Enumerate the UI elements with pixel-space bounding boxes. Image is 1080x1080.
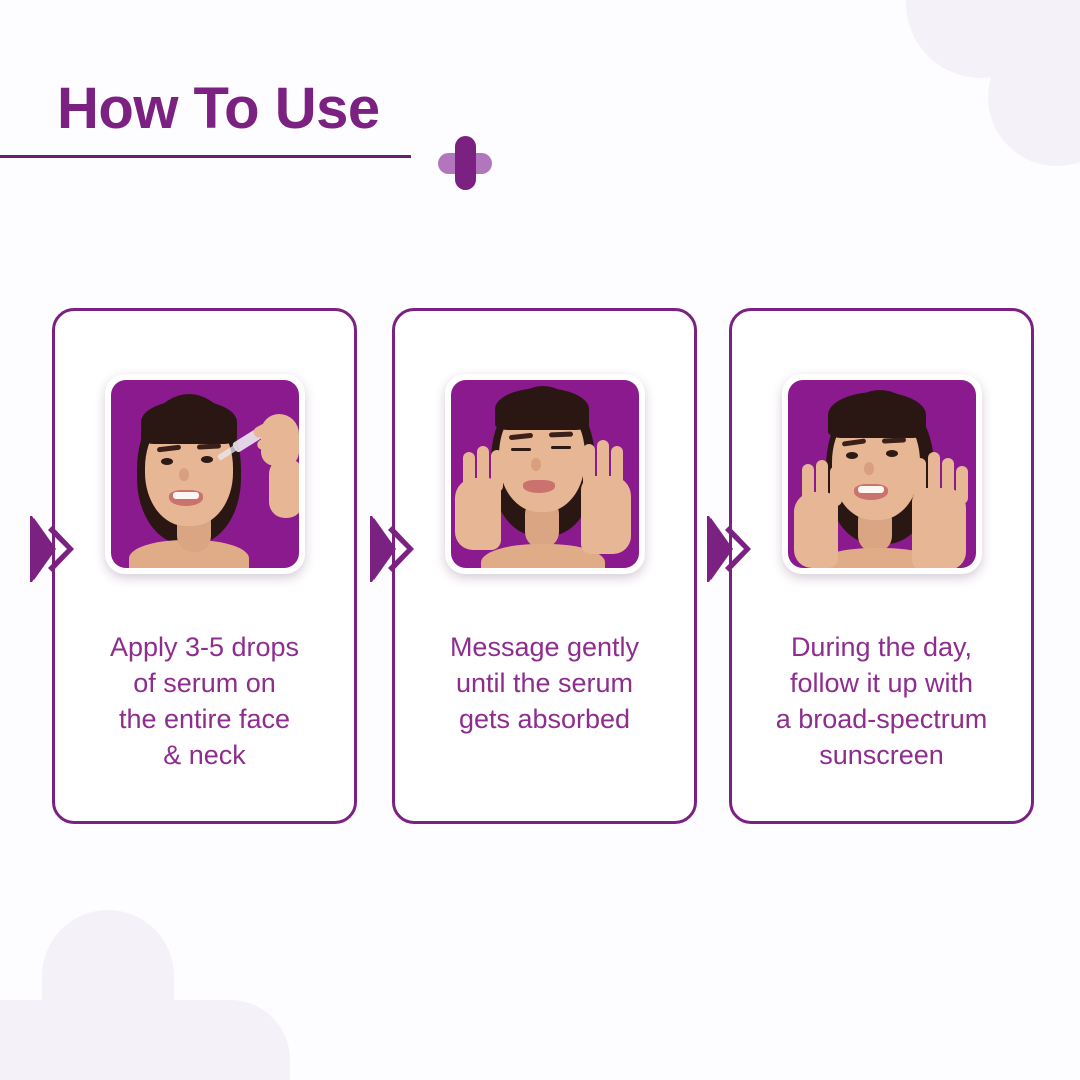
step-card-1[interactable]: Apply 3-5 drops of serum on the entire f… [52, 308, 357, 824]
step-card-2[interactable]: Message gently until the serum gets abso… [392, 308, 697, 824]
double-chevron-right-icon [370, 510, 416, 588]
step-caption-1: Apply 3-5 drops of serum on the entire f… [66, 630, 343, 774]
step-image-1 [111, 380, 299, 568]
step-caption-3: During the day, follow it up with a broa… [743, 630, 1020, 774]
blob-top-right-2 [988, 28, 1080, 166]
double-chevron-right-icon [30, 510, 76, 588]
blob-bottom-left-3 [170, 1000, 290, 1080]
double-chevron-right-icon [707, 510, 753, 588]
title-divider [0, 155, 411, 158]
steps-row: Apply 3-5 drops of serum on the entire f… [0, 308, 1080, 824]
page-title: How To Use [57, 79, 380, 140]
step-card-3[interactable]: During the day, follow it up with a broa… [729, 308, 1034, 824]
blob-bottom-left-2 [0, 1000, 146, 1080]
portrait-illustration-1 [111, 380, 299, 568]
step-image-2 [451, 380, 639, 568]
step-image-frame-1 [105, 374, 305, 574]
step-caption-2: Message gently until the serum gets abso… [406, 630, 683, 738]
step-image-frame-3 [782, 374, 982, 574]
blob-top-right-1 [906, 0, 1056, 78]
portrait-illustration-3 [788, 380, 976, 568]
blob-top-right-3 [1020, 0, 1080, 70]
plus-mark-icon [438, 136, 492, 190]
plus-mark-vertical-bar [455, 136, 476, 190]
step-image-frame-2 [445, 374, 645, 574]
portrait-illustration-2 [451, 380, 639, 568]
step-image-3 [788, 380, 976, 568]
blob-bottom-left-1 [42, 910, 174, 1080]
